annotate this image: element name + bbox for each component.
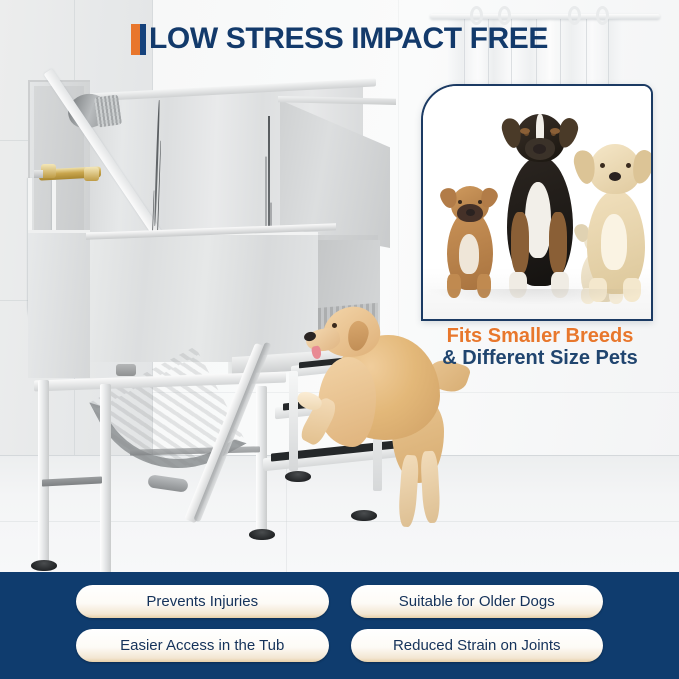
stand-leg: [38, 380, 49, 565]
tub-front-panel: [88, 232, 318, 362]
hanging-cord: [268, 116, 270, 236]
size-comparison-card: [421, 84, 653, 321]
feature-badge-reduced-strain[interactable]: Reduced Strain on Joints: [351, 629, 604, 662]
stand-brace: [42, 476, 102, 486]
inset-dog-golden-retriever: [571, 142, 649, 302]
accent-bar-orange-icon: [131, 24, 140, 55]
curtain-rod: [430, 14, 660, 19]
inset-dog-small-tan: [437, 182, 501, 302]
caption-line-2: & Different Size Pets: [418, 348, 662, 370]
inset-caption: Fits Smaller Breeds & Different Size Pet…: [418, 326, 662, 369]
step-support: [289, 371, 298, 471]
dog-eye: [332, 323, 337, 328]
feature-badge-list: Prevents Injuries Suitable for Older Dog…: [0, 572, 679, 679]
accent-bar-blue-icon: [140, 24, 146, 55]
rubber-foot: [31, 560, 57, 571]
caption-line-1: Fits Smaller Breeds: [418, 326, 662, 348]
feature-badge-easier-access[interactable]: Easier Access in the Tub: [76, 629, 329, 662]
headline: LOW STRESS IMPACT FREE: [0, 22, 679, 56]
faucet-knob[interactable]: [84, 167, 99, 181]
faucet-knob[interactable]: [41, 164, 56, 178]
card-floor-shadow: [423, 289, 651, 305]
page-title: LOW STRESS IMPACT FREE: [149, 22, 548, 56]
shower-head-hose: [94, 94, 122, 127]
feature-banner: Prevents Injuries Suitable for Older Dog…: [0, 572, 679, 679]
feature-badge-suitable-older-dogs[interactable]: Suitable for Older Dogs: [351, 585, 604, 618]
drain-outlet: [116, 364, 136, 376]
drain-hose-tip: [147, 474, 188, 492]
tub-left-lower-panel: [28, 230, 90, 378]
product-feature-image: LOW STRESS IMPACT FREE: [0, 0, 679, 679]
feature-badge-prevents-injuries[interactable]: Prevents Injuries: [76, 585, 329, 618]
faucet-neck: [34, 170, 43, 178]
